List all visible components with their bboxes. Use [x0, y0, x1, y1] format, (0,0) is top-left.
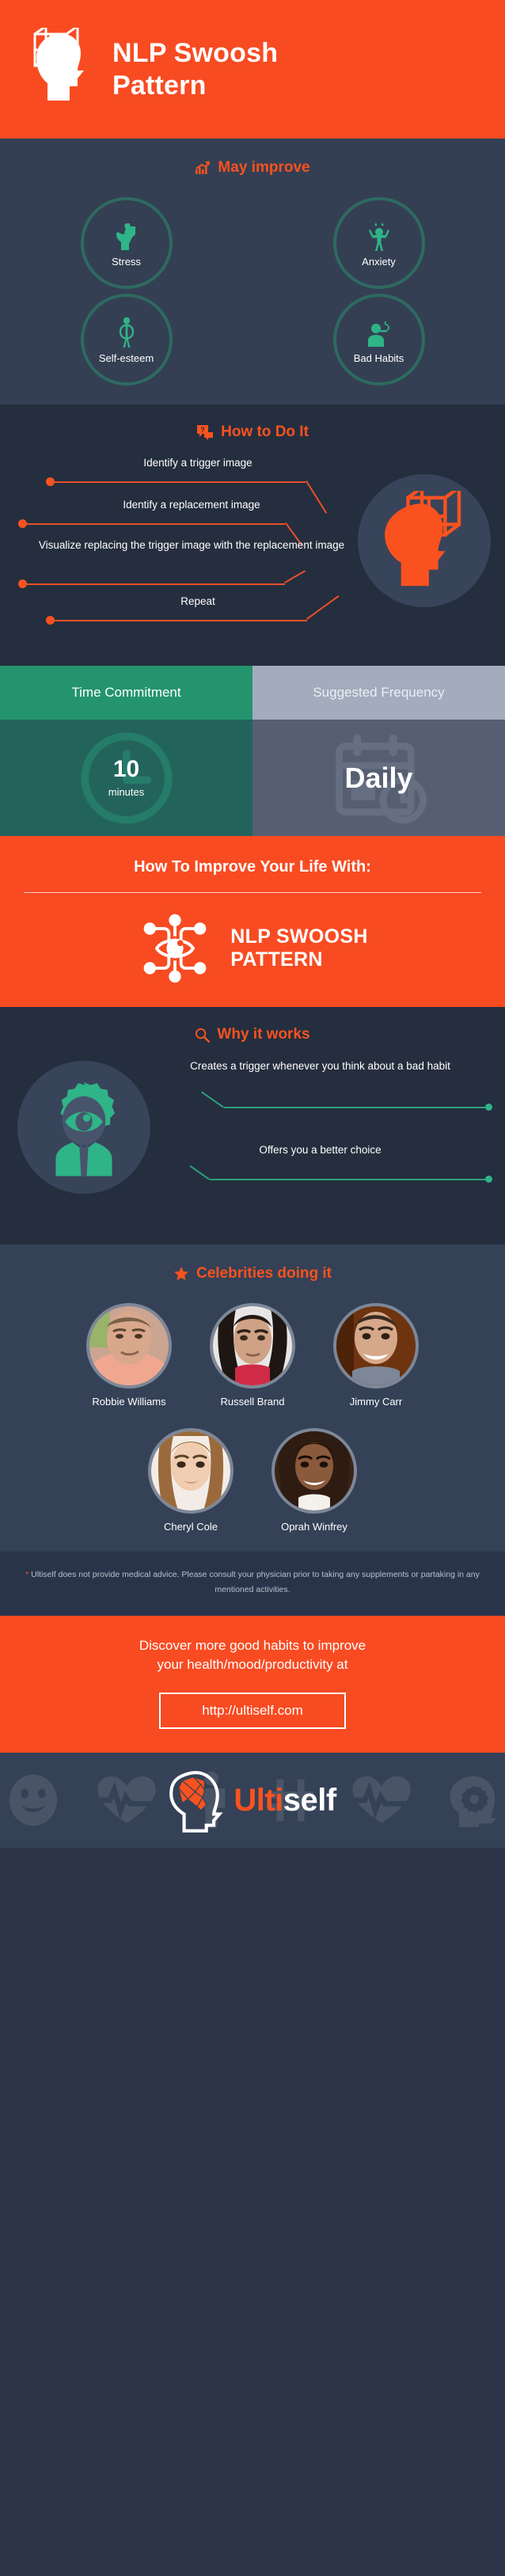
page-title-line2: Pattern	[112, 70, 278, 101]
how-to-step-tail	[284, 570, 306, 583]
time-commitment-value-group: 10 minutes	[108, 758, 145, 798]
brand-cta-headline: How To Improve Your Life With:	[0, 858, 505, 876]
brain-head-icon	[169, 1768, 226, 1833]
why-it-works-tail	[190, 1165, 210, 1180]
celebrities-heading-label: Celebrities doing it	[196, 1265, 332, 1282]
celebrity-name: Cheryl Cole	[164, 1521, 218, 1533]
infographic-page: NLP Swoosh Pattern May improve	[0, 0, 505, 2576]
stats-section: Time Commitment 10 minutes Suggested Fre…	[0, 666, 505, 836]
celebrities-row-1: Robbie Williams	[0, 1303, 505, 1408]
why-it-works-point-2: Offers you a better choice	[0, 1143, 505, 1157]
footer-wordmark: Ultiself	[234, 1784, 336, 1816]
celebrities-section: Celebrities doing it	[0, 1244, 505, 1552]
why-it-works-line	[210, 1179, 488, 1180]
how-to-step-line	[50, 481, 306, 483]
star-icon	[173, 1266, 189, 1282]
suggested-frequency-body: Daily	[252, 720, 505, 836]
heart-icon	[351, 1772, 412, 1828]
suggested-frequency-value: Daily	[344, 762, 412, 795]
improve-item-anxiety[interactable]: Anxiety	[333, 197, 425, 289]
page-footer: Ultiself	[0, 1753, 505, 1848]
why-it-works-heading-label: Why it works	[217, 1026, 309, 1043]
smiley-icon	[5, 1772, 62, 1829]
celebrities-row-2: Cheryl Cole Oprah Wi	[0, 1428, 505, 1533]
time-commitment-header: Time Commitment	[0, 666, 252, 720]
celebrities-heading: Celebrities doing it	[0, 1265, 505, 1282]
head-gear-icon	[446, 1771, 500, 1829]
brand-cta-name-line2: PATTERN	[230, 948, 367, 972]
why-it-works-point-text: Offers you a better choice	[0, 1143, 505, 1157]
time-commitment-column: Time Commitment 10 minutes	[0, 666, 252, 836]
how-to-heading: ? How to Do It	[0, 424, 505, 441]
page-title-line1: NLP Swoosh	[112, 37, 278, 69]
how-to-step-1: Identify a trigger image	[0, 457, 505, 470]
final-cta-line2: your health/mood/productivity at	[22, 1655, 483, 1675]
celebrity-card[interactable]: Jimmy Carr	[325, 1303, 427, 1408]
time-commitment-body: 10 minutes	[0, 720, 252, 836]
how-to-step-line	[22, 583, 285, 585]
gear-eye-person-icon	[36, 1077, 131, 1178]
why-it-works-dot	[485, 1176, 492, 1183]
improve-item-stress[interactable]: Stress	[81, 197, 173, 289]
disclaimer-body: Ultiself does not provide medical advice…	[28, 1570, 480, 1594]
why-it-works-body: Creates a trigger whenever you think abo…	[0, 1056, 505, 1222]
improve-label: Self-esteem	[99, 353, 154, 363]
page-header: NLP Swoosh Pattern	[0, 0, 505, 139]
brand-cta-row: NLP SWOOSH PATTERN	[0, 910, 505, 986]
avatar	[333, 1303, 419, 1389]
why-it-works-point-text: Creates a trigger whenever you think abo…	[0, 1059, 505, 1073]
how-to-body: Identify a trigger image Identify a repl…	[0, 457, 505, 640]
how-to-step-3: Visualize replacing the trigger image wi…	[0, 539, 505, 553]
anxious-person-icon	[367, 220, 391, 252]
why-it-works-point-1: Creates a trigger whenever you think abo…	[0, 1059, 505, 1073]
how-to-step-text: Identify a trigger image	[0, 457, 505, 470]
smoking-person-icon	[366, 317, 393, 348]
why-it-works-heading: Why it works	[0, 1026, 505, 1043]
network-eye-icon	[137, 910, 213, 986]
celebrity-card[interactable]: Robbie Williams	[78, 1303, 180, 1408]
disclaimer-section: * Ultiself does not provide medical advi…	[0, 1552, 505, 1616]
how-to-step-text: Visualize replacing the trigger image wi…	[0, 539, 505, 553]
improve-label: Anxiety	[362, 256, 396, 267]
final-cta-section: Discover more good habits to improve you…	[0, 1616, 505, 1753]
why-it-works-section: Why it works Creates a trigger whenever …	[0, 1007, 505, 1244]
avatar	[271, 1428, 357, 1514]
how-to-step-text: Repeat	[0, 595, 505, 609]
improve-item-bad-habits[interactable]: Bad Habits	[333, 294, 425, 386]
final-cta-line1: Discover more good habits to improve	[22, 1636, 483, 1656]
brand-cta-name-line1: NLP SWOOSH	[230, 925, 367, 949]
celebrity-card[interactable]: Cheryl Cole	[139, 1428, 242, 1533]
stressed-head-icon	[115, 220, 139, 252]
magnifier-icon	[195, 1028, 210, 1043]
avatar	[148, 1428, 234, 1514]
celebrity-card[interactable]: Oprah Winfrey	[263, 1428, 366, 1533]
why-it-works-line	[224, 1107, 488, 1108]
brand-cta-section: How To Improve Your Life With:	[0, 836, 505, 1007]
time-commitment-unit: minutes	[108, 786, 145, 798]
heartbeat-icon	[96, 1772, 158, 1829]
how-to-section: ? How to Do It Identify a t	[0, 405, 505, 666]
how-to-step-2: Identify a replacement image	[0, 499, 505, 512]
disclaimer-text: * Ultiself does not provide medical advi…	[21, 1567, 484, 1598]
may-improve-grid: Stress Anxiety	[0, 197, 505, 386]
celebrity-name: Robbie Williams	[92, 1396, 165, 1408]
celebrity-name: Oprah Winfrey	[281, 1521, 347, 1533]
how-to-step-4: Repeat	[0, 595, 505, 609]
how-to-step-text: Identify a replacement image	[0, 499, 505, 512]
footer-logo: Ultiself	[169, 1768, 336, 1833]
brand-cta-divider	[24, 892, 481, 893]
how-to-heading-label: How to Do It	[221, 424, 309, 441]
growth-chart-icon	[195, 160, 211, 176]
svg-text:?: ?	[200, 426, 205, 434]
celebrity-name: Jimmy Carr	[350, 1396, 402, 1408]
improve-label: Stress	[112, 256, 141, 267]
celebrity-card[interactable]: Russell Brand	[201, 1303, 304, 1408]
why-it-works-dot	[485, 1104, 492, 1111]
brand-cta-name: NLP SWOOSH PATTERN	[230, 925, 367, 972]
improve-label: Bad Habits	[354, 353, 404, 363]
why-it-works-illustration	[17, 1061, 150, 1194]
may-improve-section: May improve Stress	[0, 139, 505, 405]
footer-word-orange: Ulti	[234, 1783, 283, 1818]
how-to-step-line	[22, 523, 285, 525]
why-it-works-tail	[201, 1091, 224, 1108]
question-bubble-icon: ?	[196, 424, 214, 440]
time-commitment-value: 10	[108, 758, 145, 781]
final-cta-text: Discover more good habits to improve you…	[22, 1636, 483, 1675]
suggested-frequency-header: Suggested Frequency	[252, 666, 505, 720]
celebrity-name: Russell Brand	[221, 1396, 285, 1408]
how-to-step-line	[50, 620, 307, 621]
head-cube-icon	[32, 28, 95, 111]
avatar	[86, 1303, 172, 1389]
may-improve-heading: May improve	[0, 159, 505, 177]
standing-person-icon	[117, 317, 136, 348]
improve-item-self-esteem[interactable]: Self-esteem	[81, 294, 173, 386]
avatar	[210, 1303, 295, 1389]
may-improve-heading-label: May improve	[218, 159, 309, 177]
suggested-frequency-column: Suggested Frequency Daily	[252, 666, 505, 836]
website-url-button[interactable]: http://ultiself.com	[159, 1693, 346, 1729]
page-title: NLP Swoosh Pattern	[112, 37, 278, 101]
footer-word-white: self	[283, 1783, 336, 1818]
